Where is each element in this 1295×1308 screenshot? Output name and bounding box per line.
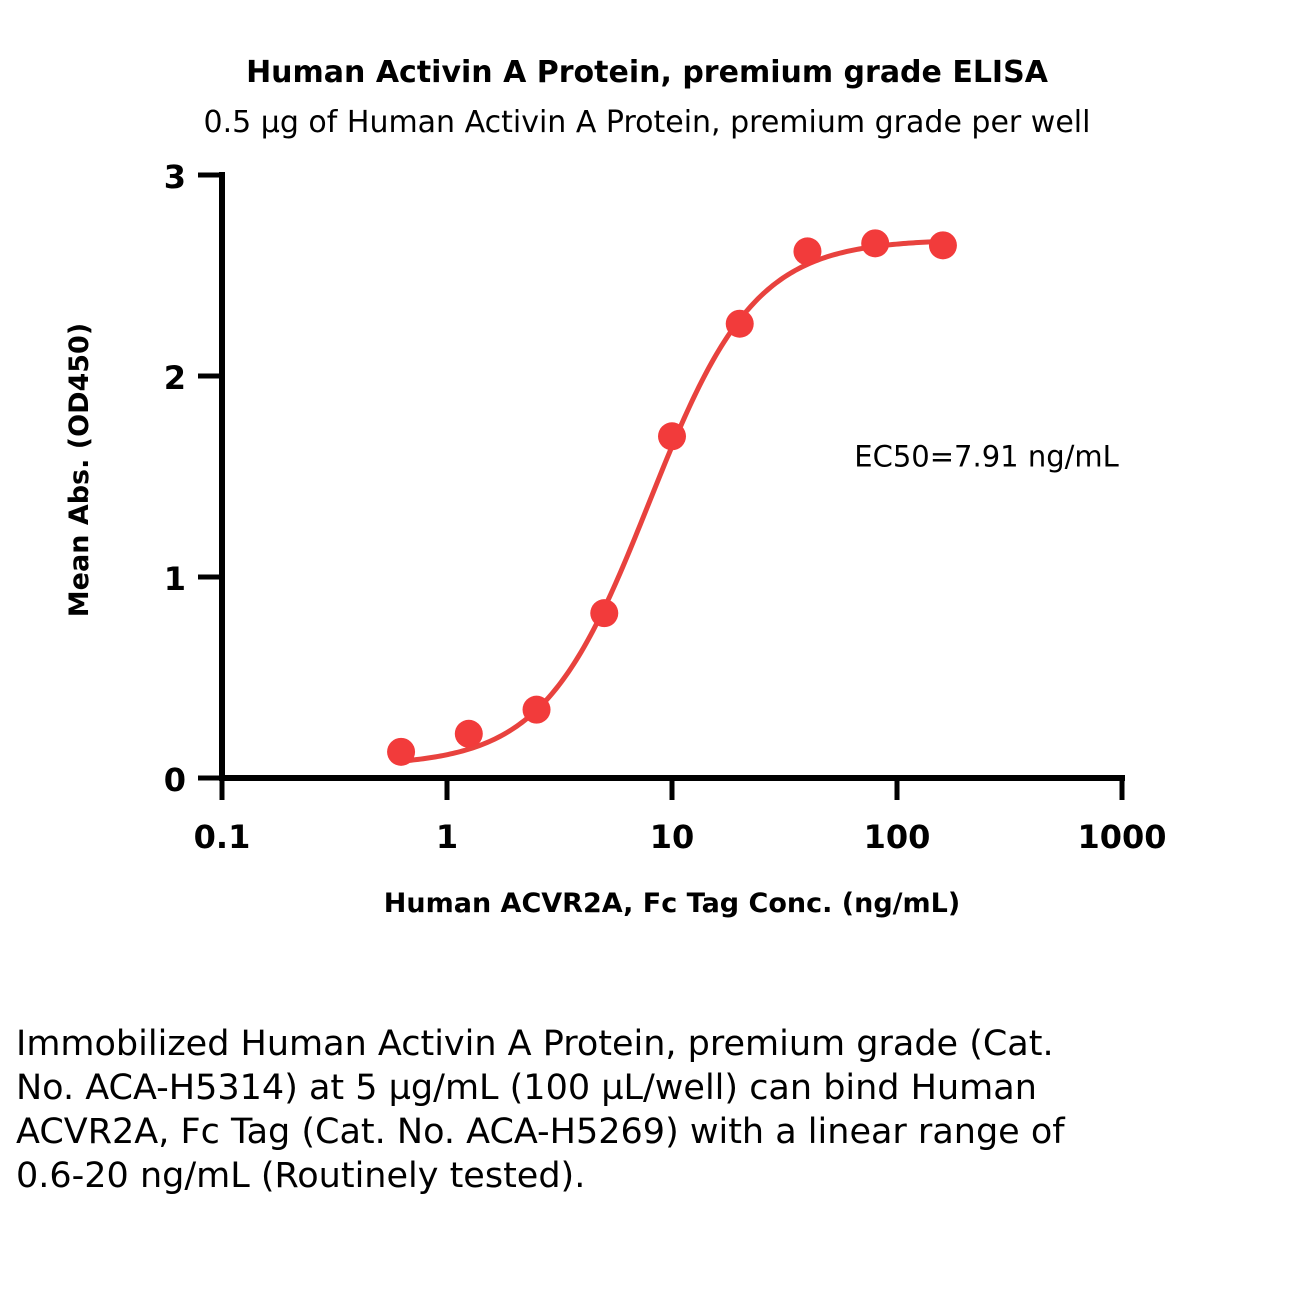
data-point-marker [387, 738, 415, 766]
y-axis-title: Mean Abs. (OD450) [64, 323, 95, 617]
figure-caption: Immobilized Human Activin A Protein, pre… [16, 1022, 1076, 1198]
data-point-marker [590, 599, 618, 627]
data-point-marker [929, 231, 957, 259]
x-tick-label: 10 [650, 818, 695, 856]
data-point-marker [793, 237, 821, 265]
y-tick-label: 0 [164, 761, 186, 799]
elisa-chart-figure: Human Activin A Protein, premium grade E… [0, 0, 1295, 960]
x-tick-label: 1000 [1077, 818, 1166, 856]
data-point-marker [523, 696, 551, 724]
chart-background [0, 0, 1295, 960]
data-point-marker [726, 310, 754, 338]
x-tick-label: 1 [436, 818, 458, 856]
x-axis-title: Human ACVR2A, Fc Tag Conc. (ng/mL) [384, 888, 960, 919]
data-point-marker [455, 720, 483, 748]
chart-subtitle: 0.5 µg of Human Activin A Protein, premi… [204, 105, 1091, 140]
chart-annotations: EC50=7.91 ng/mL [854, 439, 1119, 473]
x-tick-label: 0.1 [194, 818, 251, 856]
chart-title: Human Activin A Protein, premium grade E… [246, 55, 1049, 90]
y-tick-label: 3 [164, 158, 186, 196]
x-tick-label: 100 [864, 818, 931, 856]
y-tick-label: 2 [164, 359, 186, 397]
y-tick-label: 1 [164, 560, 186, 598]
ec50-annotation: EC50=7.91 ng/mL [854, 439, 1119, 473]
data-point-marker [861, 229, 889, 257]
data-point-marker [658, 422, 686, 450]
